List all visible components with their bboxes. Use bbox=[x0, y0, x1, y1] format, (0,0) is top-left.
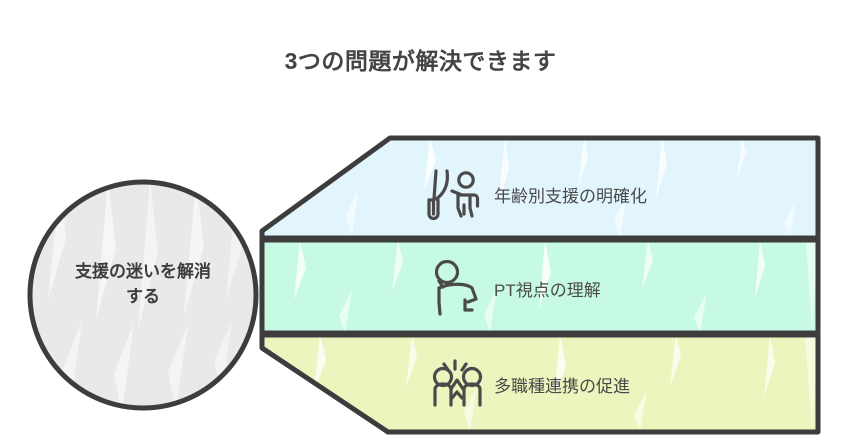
hub-circle[interactable] bbox=[28, 180, 258, 414]
band-shape-1[interactable] bbox=[262, 240, 818, 334]
diagram-svg bbox=[0, 0, 841, 442]
band-shape-0[interactable] bbox=[262, 138, 818, 238]
band-fill-2 bbox=[262, 335, 818, 432]
band-fill-0 bbox=[262, 138, 818, 238]
band-shape-2[interactable] bbox=[262, 335, 818, 434]
infographic-container: 3つの問題が解決できます 支援の迷いを解消 する 年齢別支援の明確化 PT視点の… bbox=[0, 0, 841, 442]
